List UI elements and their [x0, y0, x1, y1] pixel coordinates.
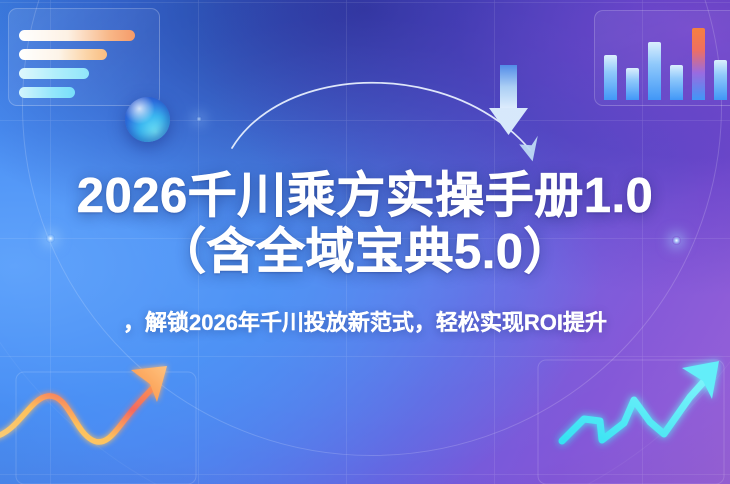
down-arrow: [489, 65, 528, 135]
chart-bar-2: [626, 68, 639, 100]
progress-bar-1: [19, 30, 135, 41]
progress-bar-3: [19, 68, 89, 79]
progress-bars-card: [8, 8, 160, 106]
title-line-1: 2026千川乘方实操手册1.0: [0, 168, 730, 224]
chart-bar-6: [714, 60, 727, 100]
progress-bar-4: [19, 87, 75, 98]
zigzag-growth-arrow: [562, 361, 719, 441]
bar-chart: [604, 28, 727, 100]
glossy-sphere: [125, 97, 170, 142]
glow-node-top: [196, 116, 202, 122]
bottom-right-panel-outline: [538, 360, 724, 484]
promo-banner: 2026千川乘方实操手册1.0 （含全域宝典5.0） ，解锁2026年千川投放新…: [0, 0, 730, 484]
headline-block: 2026千川乘方实操手册1.0 （含全域宝典5.0）: [0, 168, 730, 280]
chart-bar-3: [648, 42, 661, 100]
progress-bar-2: [19, 49, 107, 60]
chart-bar-5-highlight: [692, 28, 705, 100]
subtitle: ，解锁2026年千川投放新范式，轻松实现ROI提升: [0, 305, 730, 337]
curved-arrow-path: [232, 83, 530, 150]
title-line-2: （含全域宝典5.0）: [0, 224, 730, 280]
chart-bar-1: [604, 55, 617, 100]
bottom-left-panel-outline: [16, 372, 196, 484]
curved-arrow-head: [515, 131, 540, 161]
chart-bar-4: [670, 65, 683, 100]
wave-growth-arrow: [0, 366, 167, 442]
